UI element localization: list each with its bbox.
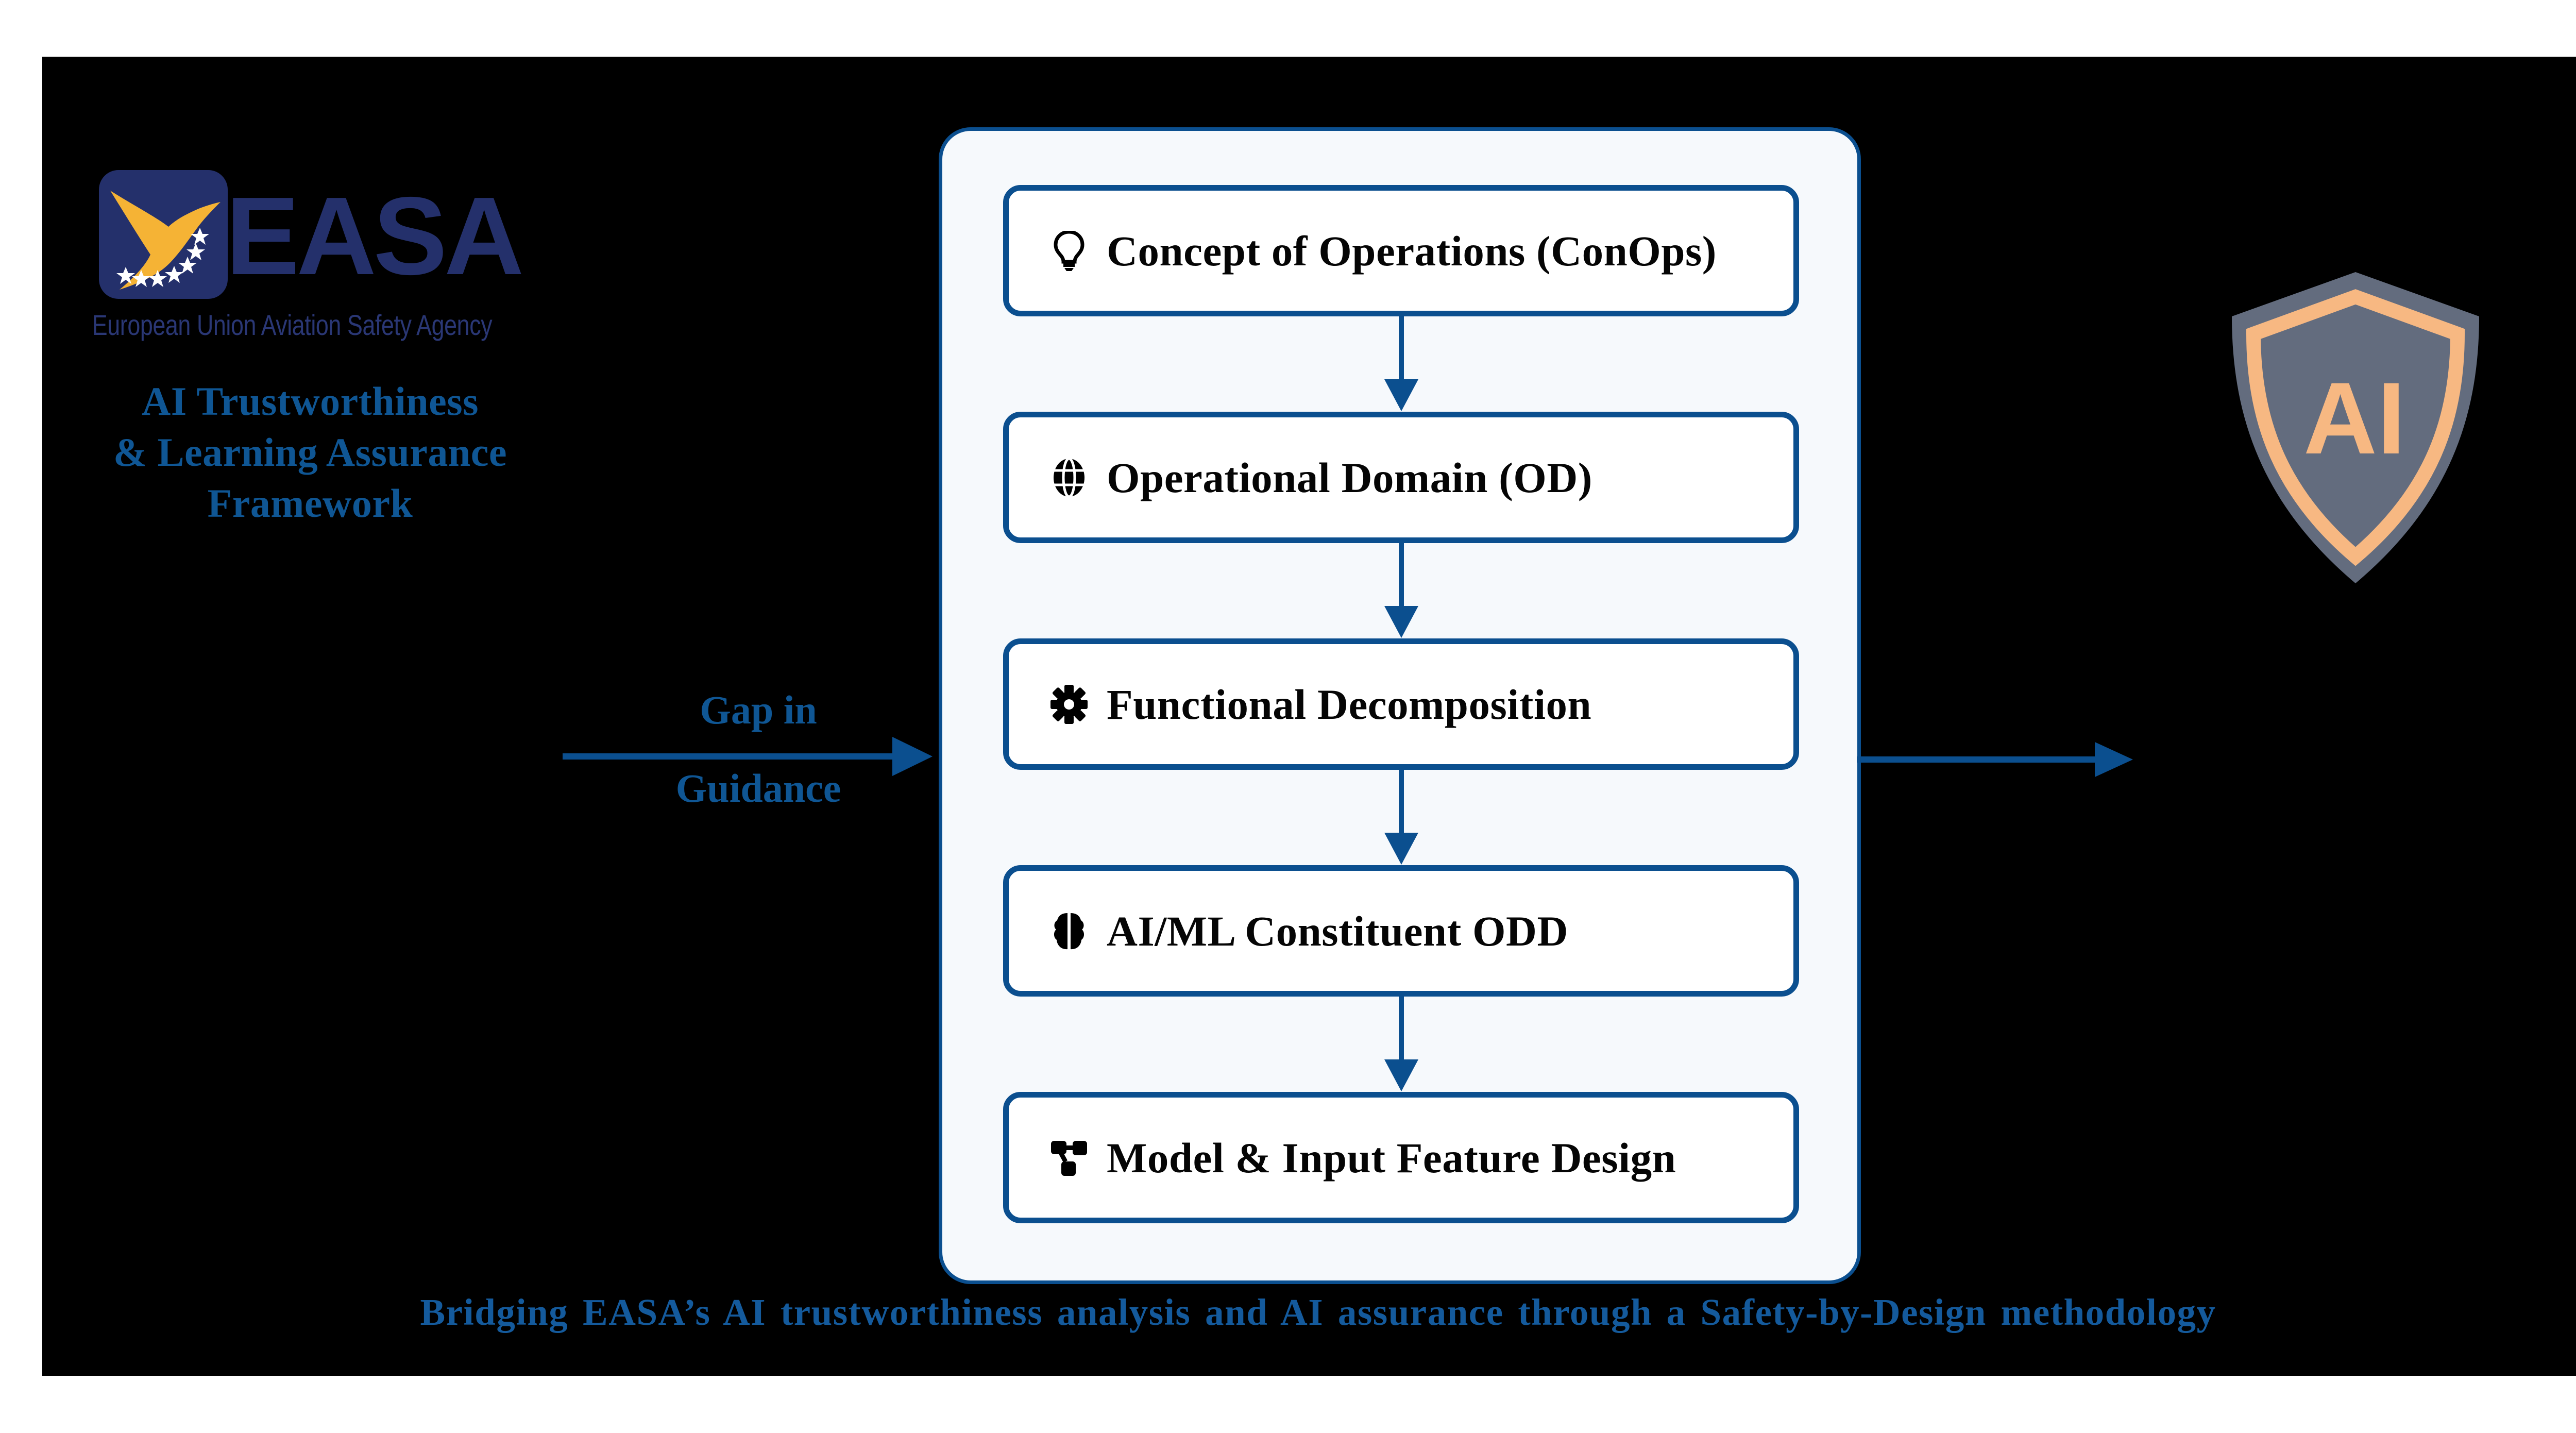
flow-connector-1 (1003, 316, 1799, 412)
arrow-shaft (1399, 543, 1404, 611)
arrow-shaft (1857, 756, 2099, 763)
figure-caption: Bridging EASA’s AI trustworthiness analy… (42, 1291, 2576, 1334)
gap-label-line-2: Guidance (624, 763, 892, 814)
flow-step-model-input-feature-design[interactable]: Model & Input Feature Design (1003, 1092, 1799, 1223)
arrow-head (1384, 1059, 1418, 1091)
framework-flow-steps: Concept of Operations (ConOps) (1003, 185, 1799, 1223)
gap-in-guidance-arrow: Gap in Guidance (563, 689, 944, 823)
flow-step-label: Operational Domain (OD) (1107, 453, 1592, 502)
flow-connector-3 (1003, 770, 1799, 865)
arrow-shaft (1399, 997, 1404, 1065)
easa-wordmark: EASA (226, 189, 521, 284)
figure-page: EASA European Union Aviation Safety Agen… (0, 0, 2576, 1433)
arrow-head (892, 737, 933, 776)
arrow-shaft (563, 753, 897, 760)
arrow-head (1384, 379, 1418, 411)
framework-title-line-2: & Learning Assurance (53, 427, 568, 478)
ai-shield-icon: AI (2222, 263, 2489, 593)
arrow-shaft (1399, 316, 1404, 384)
flow-step-conops[interactable]: Concept of Operations (ConOps) (1003, 185, 1799, 316)
flow-step-aiml-constituent-odd[interactable]: AI/ML Constituent ODD (1003, 865, 1799, 997)
arrow-head (2095, 742, 2133, 777)
flow-connector-4 (1003, 997, 1799, 1092)
flow-step-label: Functional Decomposition (1107, 680, 1591, 729)
flow-step-operational-domain[interactable]: Operational Domain (OD) (1003, 412, 1799, 543)
framework-title-line-3: Framework (53, 478, 568, 529)
brain-icon (1049, 911, 1089, 951)
arrow-head (1384, 833, 1418, 865)
globe-icon (1049, 458, 1089, 498)
figure-canvas: EASA European Union Aviation Safety Agen… (42, 57, 2576, 1376)
flow-step-functional-decomposition[interactable]: Functional Decomposition (1003, 638, 1799, 770)
flow-step-label: AI/ML Constituent ODD (1107, 906, 1568, 956)
sitemap-icon (1049, 1138, 1089, 1178)
ai-shield-label: AI (2303, 361, 2405, 475)
gear-icon (1049, 684, 1089, 724)
gap-in-guidance-label: Gap in Guidance (624, 684, 892, 814)
flow-step-label: Model & Input Feature Design (1107, 1133, 1676, 1183)
assurance-output-arrow (1857, 742, 2145, 783)
framework-title-line-1: AI Trustworthiness (53, 376, 568, 427)
easa-brand-block: EASA European Union Aviation Safety Agen… (53, 170, 573, 529)
flow-step-label: Concept of Operations (ConOps) (1107, 226, 1717, 276)
lightbulb-icon (1049, 231, 1089, 271)
easa-logo: EASA (53, 170, 573, 299)
arrow-shaft (1399, 770, 1404, 838)
arrow-head (1384, 606, 1418, 638)
gap-label-line-1: Gap in (624, 684, 892, 736)
framework-title: AI Trustworthiness & Learning Assurance … (53, 376, 573, 529)
framework-flow-card: Concept of Operations (ConOps) (939, 127, 1861, 1284)
easa-bird-stars-logo-icon (99, 170, 228, 299)
easa-subtitle: European Union Aviation Safety Agency (53, 308, 469, 342)
flow-connector-2 (1003, 543, 1799, 638)
